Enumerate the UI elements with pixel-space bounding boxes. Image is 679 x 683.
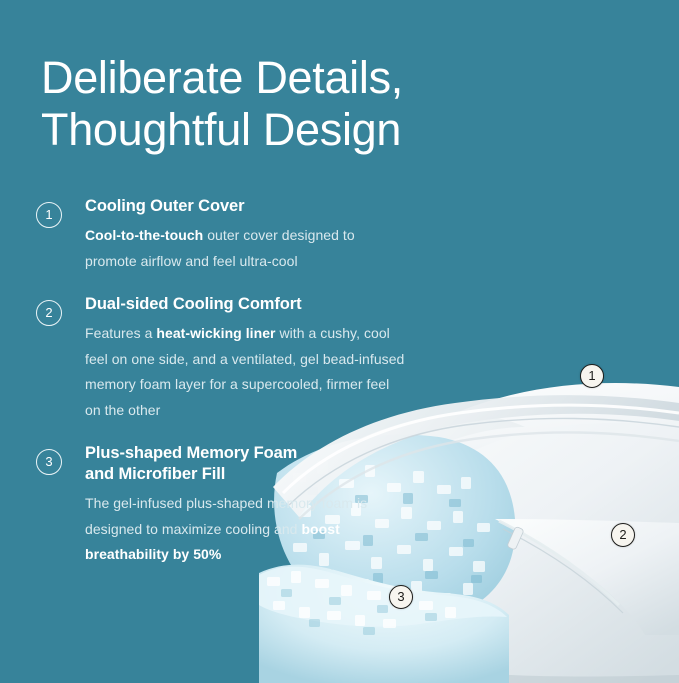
feature-number-2: 2 (36, 300, 62, 326)
callout-badge-3[interactable]: 3 (389, 585, 413, 609)
feature-list: 1 Cooling Outer Cover Cool-to-the-touch … (36, 196, 406, 568)
callout-badge-2[interactable]: 2 (611, 523, 635, 547)
feature-item-dual-sided-cooling-comfort: 2 Dual-sided Cooling Comfort Features a … (36, 294, 406, 423)
feature-title-3: Plus-shaped Memory Foam and Microfiber F… (85, 443, 406, 485)
promo-canvas: Deliberate Details, Thoughtful Design (0, 0, 679, 683)
feature-item-cooling-outer-cover: 1 Cooling Outer Cover Cool-to-the-touch … (36, 196, 406, 274)
feature-item-plus-shaped-memory-foam: 3 Plus-shaped Memory Foam and Microfiber… (36, 443, 406, 568)
feature-title-2: Dual-sided Cooling Comfort (85, 294, 406, 315)
callout-badge-1[interactable]: 1 (580, 364, 604, 388)
feature-number-3: 3 (36, 449, 62, 475)
feature-title-1: Cooling Outer Cover (85, 196, 406, 217)
feature-body-1: Cool-to-the-touch outer cover designed t… (85, 223, 406, 274)
feature-body-3: The gel-infused plus-shaped memory foam … (85, 491, 406, 567)
page-title: Deliberate Details, Thoughtful Design (41, 52, 521, 156)
feature-number-1: 1 (36, 202, 62, 228)
feature-body-2: Features a heat-wicking liner with a cus… (85, 321, 406, 423)
